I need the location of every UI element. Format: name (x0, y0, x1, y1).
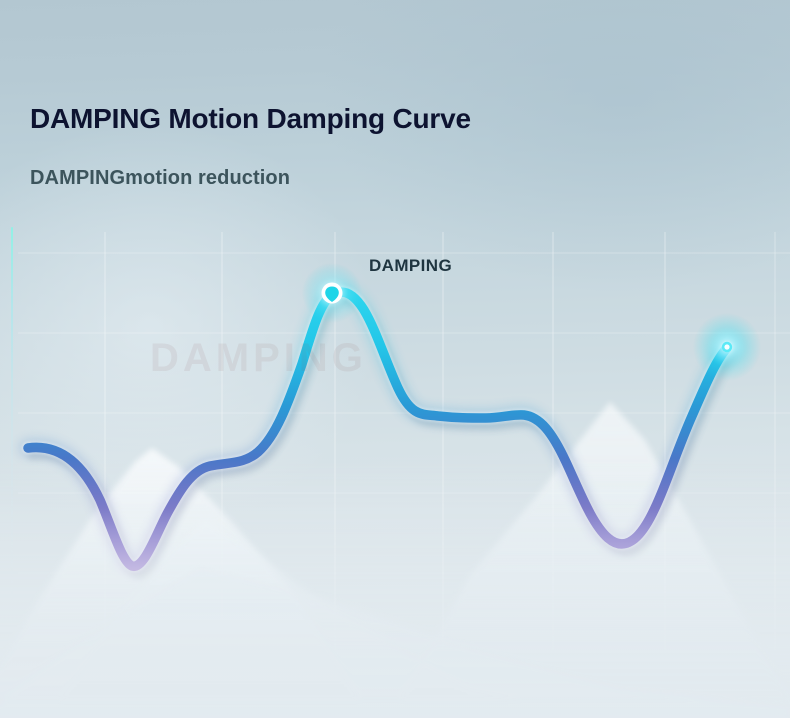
page-subtitle: DAMPINGmotion reduction (30, 167, 290, 190)
page-title: DAMPING Motion Damping Curve (30, 103, 471, 135)
series-label-damping: DAMPING (369, 256, 452, 276)
peak-marker[interactable] (296, 258, 368, 330)
endpoint-glow-icon (688, 312, 766, 382)
damping-curve-graphic: DAMPING DAMPING DAMPING Motion Damping C… (0, 0, 790, 718)
